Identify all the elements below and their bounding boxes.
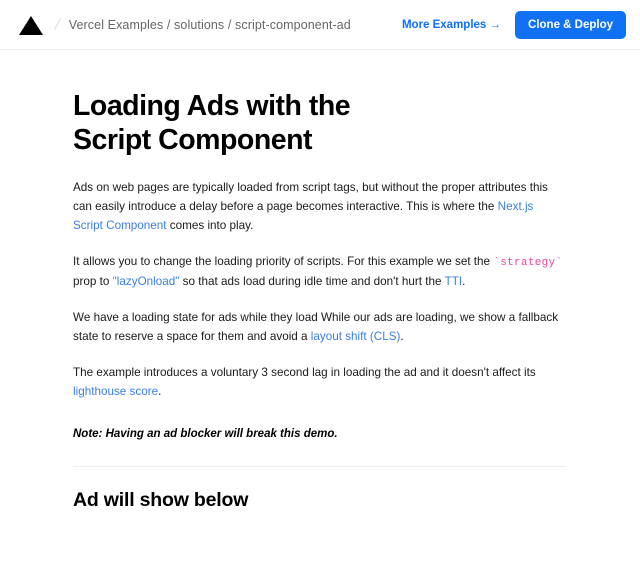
lazyonload-link[interactable]: "lazyOnload" — [113, 275, 180, 288]
clone-and-deploy-button[interactable]: Clone & Deploy — [515, 11, 626, 39]
strategy-text-3: so that ads load during idle time and do… — [179, 275, 444, 288]
intro-paragraph: Ads on web pages are typically loaded fr… — [73, 179, 566, 236]
layout-shift-cls-link[interactable]: layout shift (CLS) — [311, 330, 401, 343]
strategy-text-2: prop to — [73, 275, 113, 288]
site-header: / Vercel Examples / solutions / script-c… — [0, 0, 640, 50]
header-right-group: More Examples → Clone & Deploy — [402, 11, 626, 39]
lighthouse-text-2: . — [158, 385, 161, 398]
strategy-code-span: `strategy` — [493, 257, 562, 269]
more-examples-link[interactable]: More Examples → — [402, 19, 501, 31]
header-left-group: / Vercel Examples / solutions / script-c… — [18, 14, 402, 36]
section-divider — [73, 466, 566, 467]
ad-placeholder-slot — [73, 512, 566, 572]
breadcrumb-separator-icon: / — [53, 14, 62, 35]
loading-state-text-2: . — [400, 330, 403, 343]
lighthouse-text-1: The example introduces a voluntary 3 sec… — [73, 366, 536, 379]
strategy-text-1: It allows you to change the loading prio… — [73, 255, 493, 268]
vercel-triangle-logo[interactable] — [18, 14, 44, 36]
main-content: Loading Ads with the Script Component Ad… — [0, 50, 640, 572]
strategy-text-4: . — [462, 275, 465, 288]
page-title: Loading Ads with the Script Component — [73, 90, 433, 157]
strategy-paragraph: It allows you to change the loading prio… — [73, 253, 566, 292]
tti-link[interactable]: TTI — [445, 275, 463, 288]
intro-text-2: comes into play. — [167, 219, 254, 232]
loading-state-paragraph: We have a loading state for ads while th… — [73, 309, 566, 347]
intro-text-1: Ads on web pages are typically loaded fr… — [73, 181, 548, 213]
content-column: Loading Ads with the Script Component Ad… — [73, 90, 566, 572]
lighthouse-score-link[interactable]: lighthouse score — [73, 385, 158, 398]
lighthouse-paragraph: The example introduces a voluntary 3 sec… — [73, 364, 566, 402]
ad-section-title: Ad will show below — [73, 489, 566, 512]
breadcrumb[interactable]: Vercel Examples / solutions / script-com… — [69, 18, 351, 32]
ad-blocker-note: Note: Having an ad blocker will break th… — [73, 428, 566, 440]
